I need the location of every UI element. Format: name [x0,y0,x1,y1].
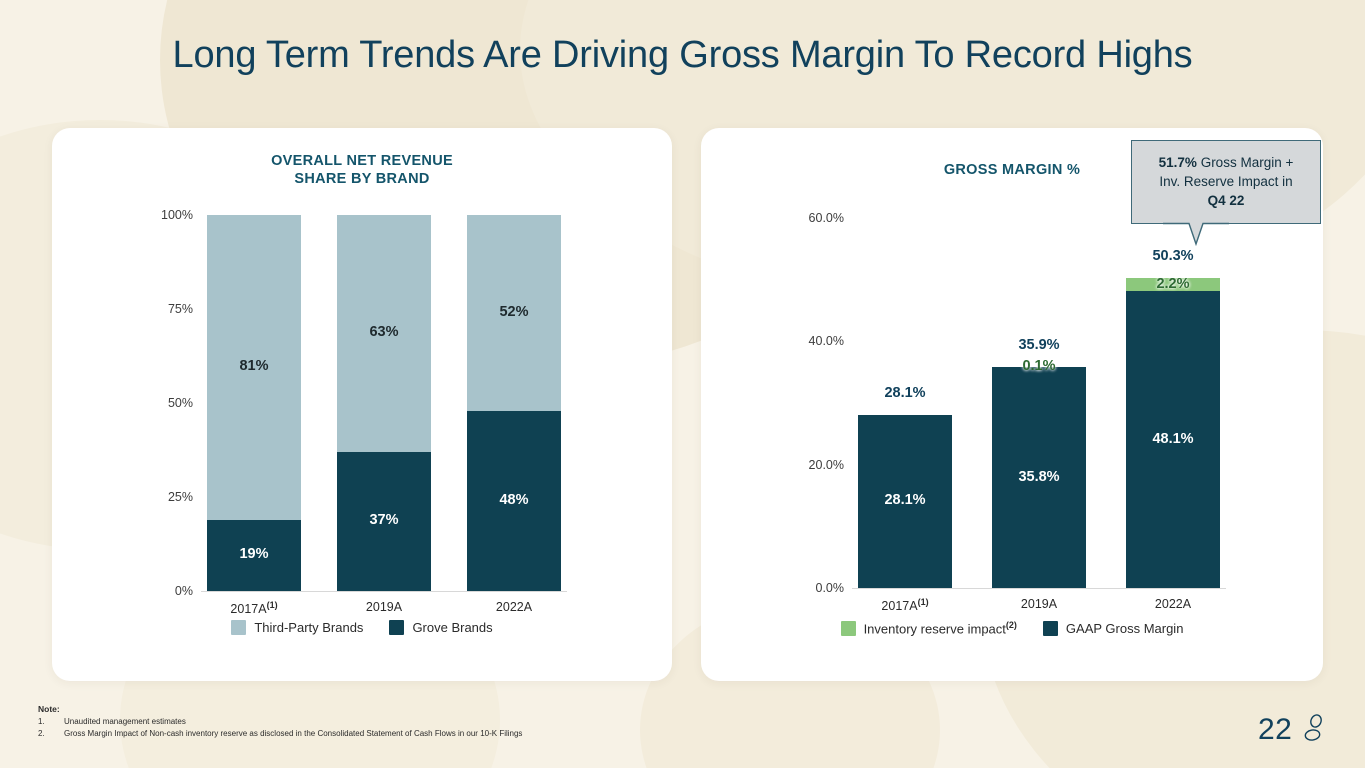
legend-label: GAAP Gross Margin [1066,621,1184,636]
callout-text-line-1: Gross Margin + [1197,155,1293,170]
footnote-number: 1. [38,716,64,728]
chart-legend-gross-margin: Inventory reserve impact(2)GAAP Gross Ma… [701,620,1323,636]
y-axis-tick: 100% [147,208,193,222]
legend-item-grove-brands[interactable]: Grove Brands [389,620,492,635]
footnote-item: 2. Gross Margin Impact of Non-cash inven… [38,728,522,740]
legend-swatch-icon [389,620,404,635]
x-axis-label-2022a: 2022A [496,600,532,614]
footnote-text: Unaudited management estimates [64,716,186,728]
chart-card-revenue-share: OVERALL NET REVENUE SHARE BY BRAND 0%25%… [52,128,672,681]
y-axis-tick: 0% [147,584,193,598]
bar-value-label: 2.2% [1126,276,1220,292]
bar-2022a[interactable]: 48%52% [467,215,561,591]
x-axis-label-2019a: 2019A [1021,597,1057,611]
x-axis-label-2017a: 2017A(1) [881,597,928,613]
footnotes: Note: 1. Unaudited management estimates … [38,703,522,740]
x-axis-label-2017a: 2017A(1) [230,600,277,616]
bar-value-label: 48.1% [1126,431,1220,447]
y-axis-tick: 60.0% [792,211,844,225]
bar-value-label: 19% [207,546,301,562]
legend-swatch-icon [231,620,246,635]
footnote-item: 1. Unaudited management estimates [38,716,522,728]
bar-2019a[interactable]: 37%63% [337,215,431,591]
legend-swatch-icon [1043,621,1058,636]
bar-value-label: 48% [467,492,561,508]
bar-2017a[interactable]: 28.1% [858,415,952,588]
legend-item-gaap-gross-margin[interactable]: GAAP Gross Margin [1043,621,1184,636]
x-axis-line [201,591,567,592]
legend-label: Grove Brands [412,620,492,635]
footnote-number: 2. [38,728,64,740]
bar-value-label: 52% [467,304,561,320]
callout-text-line-3: Q4 22 [1208,193,1245,208]
callout-text-line-2: Inv. Reserve Impact in [1159,174,1292,189]
legend-swatch-icon [841,621,856,636]
bar-total-label: 50.3% [1126,248,1220,264]
y-axis-tick: 50% [147,396,193,410]
page-number: 22 [1258,713,1292,747]
footnote-text: Gross Margin Impact of Non-cash inventor… [64,728,522,740]
y-axis-tick: 40.0% [792,334,844,348]
y-axis-tick: 25% [147,490,193,504]
x-axis-line [852,588,1226,589]
x-axis-label-2022a: 2022A [1155,597,1191,611]
bar-2017a[interactable]: 19%81% [207,215,301,591]
callout-tail-icon [1163,222,1229,246]
legend-label: Third-Party Brands [254,620,363,635]
bar-value-label: 35.8% [992,469,1086,485]
bar-value-label: 0.1% [992,358,1086,374]
plot-area-revenue-share: 0%25%50%75%100%19%81%2017A(1)37%63%2019A… [52,128,672,628]
bar-total-label: 35.9% [992,337,1086,353]
callout-value: 51.7% [1159,155,1197,170]
legend-item-third-party-brands[interactable]: Third-Party Brands [231,620,363,635]
bar-value-label: 28.1% [858,492,952,508]
bar-2019a[interactable]: 35.8%0.1% [992,367,1086,588]
y-axis-tick: 20.0% [792,458,844,472]
legend-item-inventory-reserve-impact[interactable]: Inventory reserve impact(2) [841,620,1017,636]
slide-title: Long Term Trends Are Driving Gross Margi… [0,34,1365,77]
legend-label: Inventory reserve impact(2) [864,620,1017,636]
bar-value-label: 81% [207,358,301,374]
footnotes-heading: Note: [38,703,522,715]
x-axis-label-2019a: 2019A [366,600,402,614]
y-axis-tick: 75% [147,302,193,316]
bar-value-label: 37% [337,512,431,528]
chart-legend-revenue-share: Third-Party BrandsGrove Brands [52,620,672,635]
callout-box-q4-margin: 51.7% Gross Margin + Inv. Reserve Impact… [1131,140,1321,224]
bar-total-label: 28.1% [858,385,952,401]
grove-leaf-logo-icon [1303,714,1325,744]
bar-value-label: 63% [337,324,431,340]
y-axis-tick: 0.0% [792,581,844,595]
bar-2022a[interactable]: 48.1%2.2% [1126,278,1220,588]
